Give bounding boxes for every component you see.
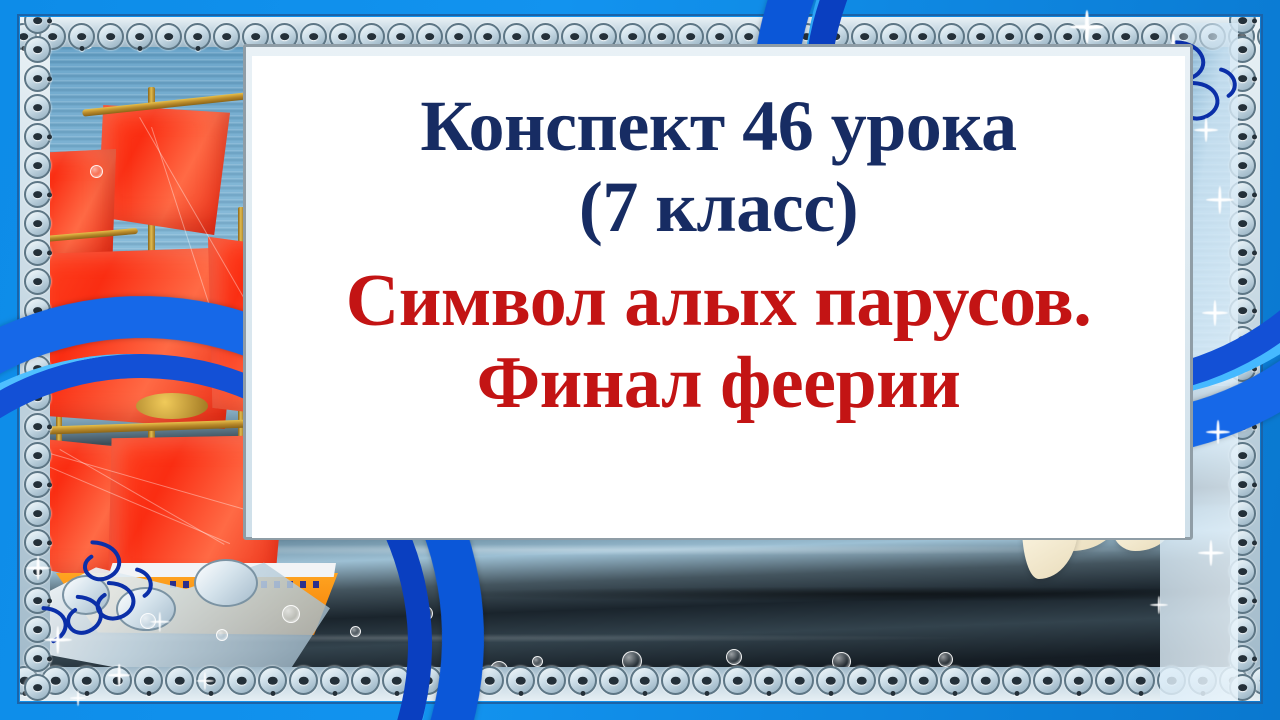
scallop-dot [1252,308,1257,313]
scallop-bump [475,666,504,695]
scallop-hole [33,568,43,576]
scallop-bump [816,666,845,695]
scallop-hole [1150,33,1160,41]
scallop-hole [1238,452,1248,460]
scallop-hole [33,539,43,547]
scallop-hole [33,365,43,373]
scallop-dot [704,691,709,696]
scallop-hole [33,423,43,431]
scallop-bump [878,666,907,695]
scallop-hole [280,33,290,41]
scallop-hole [453,676,464,685]
scallop-dot [47,482,52,487]
scallop-hole [484,676,495,685]
scallop-bump [1257,23,1260,50]
scallop-hole [33,17,43,24]
scallop-dot [47,656,52,661]
scallop-bump [289,666,318,695]
scallop-hole [947,33,957,41]
scallop-dot [47,598,52,603]
scallop-hole [1135,676,1146,685]
scallop-bump [24,558,51,585]
scallop-hole [577,676,588,685]
scallop-hole [33,162,43,170]
scallop-hole [143,676,154,685]
bubble [418,606,433,621]
scallop-hole [391,676,402,685]
scallop-bump [320,666,349,695]
scallop-dot [47,308,52,313]
scallop-hole [1092,33,1102,41]
scallop-bump [1095,666,1124,695]
scallop-hole [657,33,667,41]
bubble [726,649,742,665]
scallop-hole [1042,676,1053,685]
scallop-bump [184,23,211,50]
scallop-hole [338,33,348,41]
title-line-2: (7 класс) [579,167,858,248]
scallop-bump [97,23,124,50]
title-line-1: Конспект 46 урока [420,86,1016,167]
scallop-bump [213,23,240,50]
scallop-bump [24,616,51,643]
scallop-dot [394,691,399,696]
scallop-bump [506,666,535,695]
scallop-hole [949,676,960,685]
scallop-bump [24,355,51,382]
scallop-hole [33,249,43,257]
scallop-hole [1238,365,1248,373]
scallop-dot [1252,540,1257,545]
scallop-hole [1259,676,1260,685]
scallop-dot [47,76,52,81]
scallop-bump [24,152,51,179]
scallop-hole [483,33,493,41]
scallop-bump [196,666,225,695]
scallop-dot [146,691,151,696]
scallop-dot [1252,250,1257,255]
scallop-bump [68,23,95,50]
wave-curl [62,575,110,615]
subtitle-line-1: Символ алых парусов. [346,261,1091,342]
scallop-dot [580,691,585,696]
scallop-hole [744,33,754,41]
scallop-bump [24,17,51,34]
scallop-hole [1034,33,1044,41]
scallop-bump [847,666,876,695]
scallop-hole [639,676,650,685]
scallop-hole [715,33,725,41]
scallop-hole [763,676,774,685]
scallop-bump [126,23,153,50]
scallop-dot [47,134,52,139]
scallop-bump [24,239,51,266]
scallop-hole [1104,676,1115,685]
scallop-bump [24,442,51,469]
scallop-hole [825,676,836,685]
scallop-hole [367,33,377,41]
scallop-bump [1033,666,1062,695]
scallop-hole [33,452,43,460]
scallop-hole [887,676,898,685]
subtitle-line-2: Финал феерии [477,343,961,424]
scallop-hole [112,676,123,685]
scallop-dot [518,691,523,696]
scallop-dot [952,691,957,696]
scallop-hole [1238,307,1248,315]
scallop-hole [918,33,928,41]
scallop-hole [222,33,232,41]
scallop-hole [1238,626,1248,634]
scallop-hole [174,676,185,685]
scallop-dot [456,691,461,696]
scallop-hole [33,133,43,141]
scallop-dot [1076,691,1081,696]
scallop-hole [701,676,712,685]
scallop-dot [79,46,84,51]
scallop-bump [24,326,51,353]
scallop-hole [860,33,870,41]
scallop-dot [47,18,52,23]
scallop-bump [258,666,287,695]
scallop-bump [971,666,1000,695]
scallop-dot [47,424,52,429]
scallop-dot [1252,366,1257,371]
scallop-hole [794,676,805,685]
scallop-bump [785,666,814,695]
scallop-hole [1073,676,1084,685]
scallop-hole [77,33,87,41]
scallop-hole [670,676,681,685]
scallop-bump [103,666,132,695]
scallop-bump [24,645,51,672]
scallop-hole [1238,684,1248,692]
scallop-hole [889,33,899,41]
scallop-bump [134,666,163,695]
scallop-hole [33,510,43,518]
scallop-bump [165,666,194,695]
bubble [282,605,300,623]
scallop-hole [599,33,609,41]
scallop-hole [1011,676,1022,685]
scallop-hole [454,33,464,41]
scallop-bump [24,500,51,527]
scallop-hole [425,33,435,41]
scallop-hole [541,33,551,41]
scallop-hole [81,676,92,685]
scallop-dot [766,691,771,696]
scallop-hole [1238,191,1248,199]
scallop-bump [661,666,690,695]
scallop-dot [1252,482,1257,487]
scallop-hole [1238,655,1248,663]
scallop-dot [195,46,200,51]
scallop-bump [24,674,51,701]
scallop-hole [309,33,319,41]
scallop-bump [227,666,256,695]
scallop-hole [33,597,43,605]
scallop-hole [422,676,433,685]
scallop-dot [47,192,52,197]
scallop-hole [856,676,867,685]
scallop-dot [1014,691,1019,696]
scallop-bump [568,666,597,695]
scallop-bump [24,529,51,556]
scallop-dot [1252,192,1257,197]
scallop-hole [1005,33,1015,41]
scallop-hole [236,676,247,685]
scallop-bump [24,123,51,150]
scallop-dot [47,540,52,545]
scallop-bump [413,666,442,695]
scallop-hole [1238,597,1248,605]
scallop-bump [444,666,473,695]
scallop-hole [1238,423,1248,431]
scallop-hole [1238,394,1248,402]
wave-curl [194,559,258,607]
scallop-bump [24,587,51,614]
scallop-hole [33,75,43,83]
scallop-bump [24,36,51,63]
scallop-dot [642,691,647,696]
bubble [938,652,953,667]
scallop-hole [33,394,43,402]
scallop-hole [1238,75,1248,83]
content-card: Конспект 46 урока (7 класс) Символ алых … [252,56,1185,538]
scallop-hole [980,676,991,685]
bubble [140,613,156,629]
scallop-hole [1238,133,1248,141]
scallop-hole [329,676,340,685]
scallop-hole [976,33,986,41]
scallop-hole [33,336,43,344]
scallop-hole [298,676,309,685]
scallop-hole [33,104,43,112]
scallop-hole [164,33,174,41]
scallop-bump [1126,666,1155,695]
scallop-hole [33,46,43,54]
scallop-hole [251,33,261,41]
scallop-dot [890,691,895,696]
scallop-col-left [24,17,51,701]
scallop-dot [47,366,52,371]
mast-top-disc [136,393,208,419]
scallop-hole [1063,33,1073,41]
scallop-hole [515,676,526,685]
scallop-bump [723,666,752,695]
scallop-dot [1138,691,1143,696]
scallop-hole [1238,481,1248,489]
scallop-bump [537,666,566,695]
scallop-bump [24,471,51,498]
scallop-hole [360,676,371,685]
scallop-dot [137,46,142,51]
slide-canvas: Конспект 46 урока (7 класс) Символ алых … [0,0,1280,720]
scallop-bump [909,666,938,695]
scallop-hole [1238,539,1248,547]
scallop-hole [33,278,43,286]
scallop-dot [270,691,275,696]
scallop-bump [754,666,783,695]
scallop-hole [50,676,61,685]
scallop-hole [396,33,406,41]
scallop-hole [1238,278,1248,286]
scallop-hole [1238,162,1248,170]
scallop-bump [599,666,628,695]
scallop-hole [1238,249,1248,257]
scallop-hole [546,676,557,685]
scallop-bump [155,23,182,50]
scallop-bump [692,666,721,695]
scallop-hole [33,220,43,228]
scallop-dot [1252,76,1257,81]
scallop-bump [24,181,51,208]
scallop-hole [33,307,43,315]
scallop-hole [628,33,638,41]
scallop-row-bottom [20,666,1260,695]
scallop-hole [1238,220,1248,228]
scallop-hole [608,676,619,685]
scallop-dot [1252,656,1257,661]
scallop-hole [1238,510,1248,518]
scallop-bump [24,65,51,92]
scallop-hole [802,33,812,41]
scallop-hole [1121,33,1131,41]
scallop-hole [1238,17,1248,24]
scallop-hole [135,33,145,41]
scallop-bump [382,666,411,695]
scallop-bump [24,210,51,237]
scallop-dot [47,250,52,255]
scallop-bump [940,666,969,695]
scallop-hole [33,191,43,199]
scallop-hole [1238,104,1248,112]
scallop-bump [24,94,51,121]
scallop-bump [1002,666,1031,695]
scallop-hole [1238,568,1248,576]
scallop-bump [1064,666,1093,695]
scallop-hole [193,33,203,41]
scallop-hole [33,626,43,634]
scallop-bump [630,666,659,695]
bubble [216,629,228,641]
scallop-dot [1252,598,1257,603]
scallop-dot [208,691,213,696]
scallop-hole [33,684,43,692]
scallop-hole [106,33,116,41]
scallop-dot [332,691,337,696]
bubble [90,165,103,178]
scallop-hole [1238,336,1248,344]
scallop-hole [1238,46,1248,54]
scallop-hole [732,676,743,685]
scallop-hole [205,676,216,685]
scallop-bump [24,297,51,324]
scallop-dot [1252,134,1257,139]
scallop-bump [24,268,51,295]
scallop-hole [686,33,696,41]
scallop-dot [84,691,89,696]
scallop-dot [1252,424,1257,429]
scallop-bump [24,413,51,440]
bubble [350,626,361,637]
scallop-bump [24,384,51,411]
scallop-hole [918,676,929,685]
scallop-hole [831,33,841,41]
scallop-bump [72,666,101,695]
scallop-hole [773,33,783,41]
scallop-hole [33,655,43,663]
scallop-hole [33,481,43,489]
scallop-hole [512,33,522,41]
scallop-dot [1252,18,1257,23]
scallop-bump [351,666,380,695]
scallop-dot [828,691,833,696]
scallop-hole [570,33,580,41]
scallop-hole [267,676,278,685]
